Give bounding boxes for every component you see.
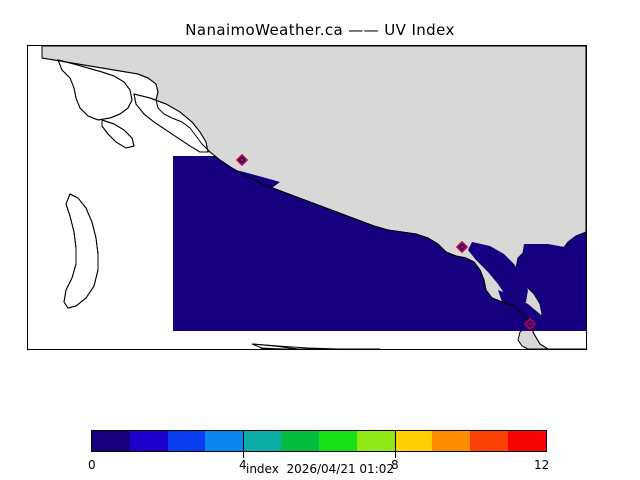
colorbar-band-7 bbox=[357, 431, 395, 451]
colorbar-band-2 bbox=[168, 431, 206, 451]
map-canvas bbox=[28, 46, 586, 349]
uv-data-rectangle bbox=[173, 156, 586, 331]
colorbar-tick-4 bbox=[243, 430, 244, 458]
uv-index-map-page: NanaimoWeather.ca —— UV Index bbox=[0, 0, 640, 480]
colorbar-band-5 bbox=[281, 431, 319, 451]
page-title: NanaimoWeather.ca —— UV Index bbox=[0, 21, 640, 39]
map-plot-frame bbox=[27, 45, 587, 350]
colorbar-band-3 bbox=[205, 431, 243, 451]
colorbar-band-0 bbox=[92, 431, 130, 451]
colorbar-bands bbox=[91, 430, 547, 452]
colorbar-band-11 bbox=[508, 431, 546, 451]
colorbar-band-6 bbox=[319, 431, 357, 451]
colorbar-band-9 bbox=[432, 431, 470, 451]
colorbar-caption: index 2026/04/21 01:02 bbox=[0, 462, 640, 476]
colorbar-band-1 bbox=[130, 431, 168, 451]
colorbar-tick-8 bbox=[395, 430, 396, 458]
colorbar-band-4 bbox=[243, 431, 281, 451]
uv-data-layer bbox=[173, 156, 586, 331]
colorbar-band-10 bbox=[470, 431, 508, 451]
colorbar: 04812 bbox=[91, 430, 547, 452]
colorbar-band-8 bbox=[395, 431, 433, 451]
